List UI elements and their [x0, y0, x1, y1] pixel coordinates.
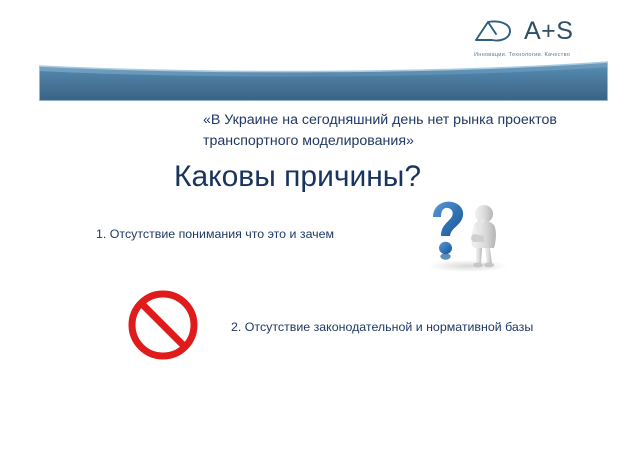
slide-canvas: A+S Инновации. Технологии. Качество: [0, 0, 640, 452]
as-mountain-logo-icon: [474, 17, 516, 45]
reason-item-2-label: 2. Отсутствие законодательной и норматив…: [231, 319, 533, 336]
logo-wordmark: A+S: [524, 19, 573, 44]
thinking-person-question-mark-icon: [414, 196, 518, 274]
page-title: Каковы причины?: [174, 159, 421, 195]
prohibition-sign-icon: [126, 288, 200, 362]
reason-item-1-label: 1. Отсутствие понимания что это и зачем: [96, 226, 334, 243]
company-logo: A+S Инновации. Технологии. Качество: [474, 14, 614, 58]
quote-text: «В Украине на сегодняшний день нет рынка…: [203, 110, 603, 151]
blue-swoosh-banner: [39, 60, 608, 101]
logo-row: A+S: [474, 14, 614, 48]
logo-tagline: Инновации. Технологии. Качество: [474, 52, 614, 58]
